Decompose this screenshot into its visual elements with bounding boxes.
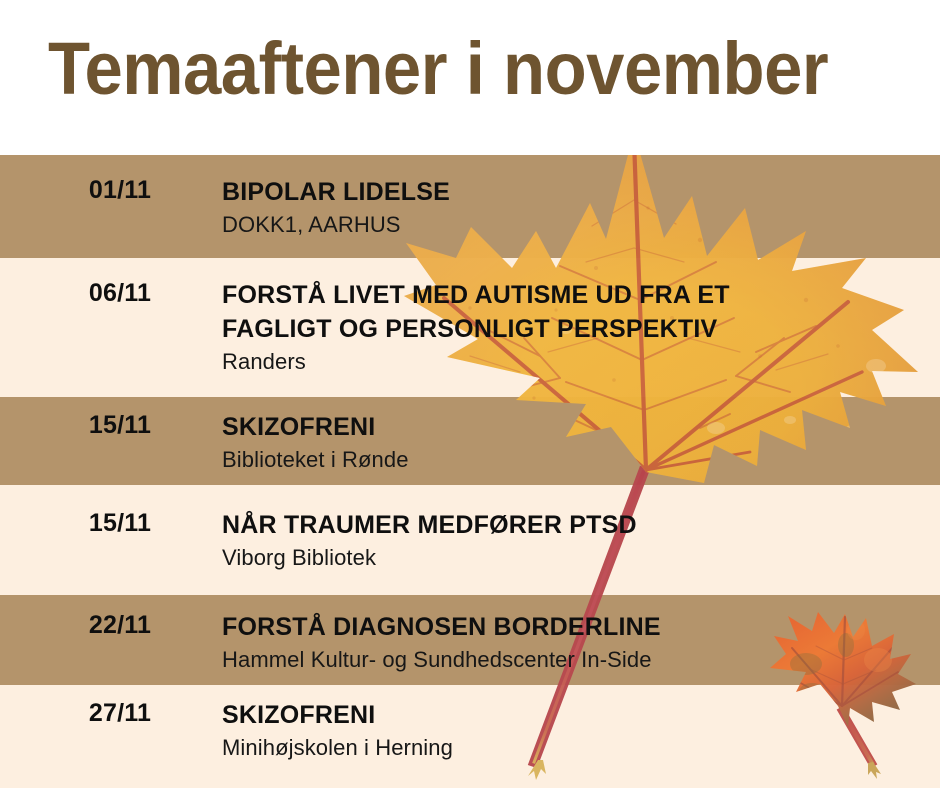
event-date: 15/11 bbox=[40, 410, 200, 440]
event-venue: Minihøjskolen i Herning bbox=[222, 733, 922, 763]
event-body: NÅR TRAUMER MEDFØRER PTSD Viborg Bibliot… bbox=[222, 508, 922, 573]
event-venue: Randers bbox=[222, 347, 922, 377]
event-title-line-1: FORSTÅ LIVET MED AUTISME UD FRA ET bbox=[222, 278, 922, 312]
event-title: FORSTÅ DIAGNOSEN BORDERLINE bbox=[222, 610, 922, 644]
event-body: FORSTÅ DIAGNOSEN BORDERLINE Hammel Kultu… bbox=[222, 610, 922, 675]
event-title-line-2: FAGLIGT OG PERSONLIGT PERSPEKTIV bbox=[222, 312, 922, 346]
event-title: SKIZOFRENI bbox=[222, 698, 922, 732]
event-venue: Biblioteket i Rønde bbox=[222, 445, 922, 475]
event-body: BIPOLAR LIDELSE DOKK1, AARHUS bbox=[222, 175, 922, 240]
poster-header: Temaaftener i november bbox=[0, 0, 940, 155]
event-date: 22/11 bbox=[40, 610, 200, 640]
event-date: 27/11 bbox=[40, 698, 200, 728]
event-body: SKIZOFRENI Minihøjskolen i Herning bbox=[222, 698, 922, 763]
event-title: BIPOLAR LIDELSE bbox=[222, 175, 922, 209]
event-date: 15/11 bbox=[40, 508, 200, 538]
event-body: FORSTÅ LIVET MED AUTISME UD FRA ET FAGLI… bbox=[222, 278, 922, 377]
event-body: SKIZOFRENI Biblioteket i Rønde bbox=[222, 410, 922, 475]
event-venue: Hammel Kultur- og Sundhedscenter In-Side bbox=[222, 645, 922, 675]
event-venue: DOKK1, AARHUS bbox=[222, 210, 922, 240]
event-title: SKIZOFRENI bbox=[222, 410, 922, 444]
poster-canvas: Temaaftener i november 01/11 BIPOLAR LID… bbox=[0, 0, 940, 788]
event-date: 06/11 bbox=[40, 278, 200, 308]
event-date: 01/11 bbox=[40, 175, 200, 205]
event-title: NÅR TRAUMER MEDFØRER PTSD bbox=[222, 508, 922, 542]
page-title: Temaaftener i november bbox=[48, 26, 848, 112]
event-venue: Viborg Bibliotek bbox=[222, 543, 922, 573]
